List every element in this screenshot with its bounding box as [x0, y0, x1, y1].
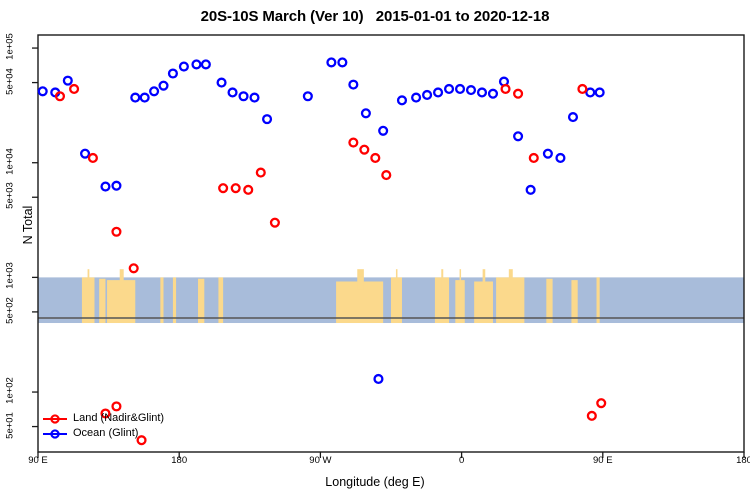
- map-strip-land-span: [546, 279, 552, 323]
- data-point-ocean: [229, 89, 237, 97]
- data-point-ocean: [514, 132, 522, 140]
- data-point-ocean: [263, 115, 271, 123]
- y-tick-label: 5e+02: [5, 290, 16, 330]
- data-point-ocean: [131, 94, 139, 102]
- data-point-ocean: [169, 70, 177, 78]
- data-point-ocean: [586, 89, 594, 97]
- map-strip-land-span: [198, 279, 204, 323]
- data-point-ocean: [150, 87, 158, 95]
- data-point-ocean: [251, 94, 259, 102]
- map-strip-land-span: [160, 277, 163, 323]
- data-point-land: [349, 139, 357, 147]
- data-point-ocean: [102, 183, 110, 191]
- map-strip-land-span: [173, 277, 176, 323]
- data-point-ocean: [527, 186, 535, 194]
- data-point-ocean: [81, 150, 89, 158]
- map-strip-land-peak: [88, 269, 90, 290]
- data-point-ocean: [240, 92, 248, 100]
- data-point-land: [257, 169, 265, 177]
- data-point-land: [514, 90, 522, 98]
- data-point-ocean: [304, 92, 312, 100]
- x-tick-label: 90 E: [578, 455, 628, 466]
- data-point-ocean: [218, 79, 226, 87]
- data-point-land: [113, 228, 121, 236]
- y-tick-label: 5e+03: [5, 176, 16, 216]
- legend-item-ocean: Ocean (Glint): [42, 426, 164, 441]
- data-point-ocean: [445, 85, 453, 93]
- data-point-ocean: [596, 89, 604, 97]
- legend-marker-land: [42, 412, 68, 426]
- data-point-land: [597, 399, 605, 407]
- data-point-ocean: [379, 127, 387, 135]
- data-point-ocean: [467, 86, 475, 94]
- data-point-ocean: [456, 85, 464, 93]
- legend-item-land: Land (Nadir&Glint): [42, 411, 164, 426]
- legend-marker-ocean: [42, 427, 68, 441]
- data-point-ocean: [398, 96, 406, 104]
- data-point-land: [130, 264, 138, 272]
- data-point-ocean: [349, 81, 357, 89]
- x-tick-label: 90 E: [13, 455, 63, 466]
- data-point-ocean: [327, 58, 335, 66]
- data-point-ocean: [202, 61, 210, 69]
- map-strip-land-span: [597, 277, 600, 323]
- data-point-ocean: [557, 154, 565, 162]
- data-point-ocean: [489, 90, 497, 98]
- y-axis-label: N Total: [21, 170, 35, 280]
- map-strip-land-span: [218, 277, 223, 323]
- data-point-ocean: [412, 94, 420, 102]
- x-tick-label: 180: [154, 455, 204, 466]
- data-point-land: [70, 85, 78, 93]
- map-strip-land-span: [571, 280, 577, 323]
- data-point-ocean: [569, 113, 577, 121]
- data-point-ocean: [39, 87, 47, 95]
- data-point-land: [360, 146, 368, 154]
- map-strip-land-span: [99, 279, 105, 323]
- data-point-land: [530, 154, 538, 162]
- data-point-ocean: [375, 375, 383, 383]
- data-point-ocean: [113, 182, 121, 190]
- data-point-land: [219, 184, 227, 192]
- page-title: 20S-10S March (Ver 10) 2015-01-01 to 202…: [0, 8, 750, 25]
- data-point-land: [89, 154, 97, 162]
- data-point-ocean: [160, 82, 168, 90]
- data-point-land: [382, 171, 390, 179]
- data-point-ocean: [362, 109, 370, 117]
- legend-label-land: Land (Nadir&Glint): [73, 411, 164, 426]
- y-tick-label: 5e+01: [5, 405, 16, 445]
- plot-frame: [38, 35, 744, 452]
- data-point-ocean: [180, 63, 188, 71]
- map-strip-land-peak: [396, 269, 398, 290]
- x-tick-label: 90 W: [295, 455, 345, 466]
- data-point-land: [232, 184, 240, 192]
- data-point-ocean: [544, 150, 552, 158]
- legend: Land (Nadir&Glint) Ocean (Glint): [42, 411, 164, 441]
- data-point-ocean: [64, 77, 72, 85]
- data-point-ocean: [423, 91, 431, 99]
- data-point-land: [271, 219, 279, 227]
- data-point-land: [579, 85, 587, 93]
- data-point-land: [371, 154, 379, 162]
- map-strip-land-peak: [460, 269, 462, 290]
- data-point-land: [588, 412, 596, 420]
- x-tick-label: 180: [719, 455, 750, 466]
- data-point-land: [244, 186, 252, 194]
- map-strip-land-peak: [483, 269, 486, 290]
- legend-label-ocean: Ocean (Glint): [73, 426, 138, 441]
- data-point-land: [113, 402, 121, 410]
- scatter-plot-figure: 20S-10S March (Ver 10) 2015-01-01 to 202…: [0, 0, 750, 500]
- data-point-ocean: [338, 58, 346, 66]
- data-point-ocean: [193, 61, 201, 69]
- x-tick-label: 0: [437, 455, 487, 466]
- y-tick-label: 5e+04: [5, 61, 16, 101]
- map-strip-land-peak: [509, 269, 513, 290]
- map-strip-land-peak: [120, 269, 124, 290]
- map-strip-land-peak: [441, 269, 443, 290]
- data-point-ocean: [141, 94, 149, 102]
- data-point-ocean: [434, 89, 442, 97]
- x-axis-label: Longitude (deg E): [0, 475, 750, 489]
- map-strip-land-peak: [357, 269, 364, 290]
- data-point-ocean: [478, 89, 486, 97]
